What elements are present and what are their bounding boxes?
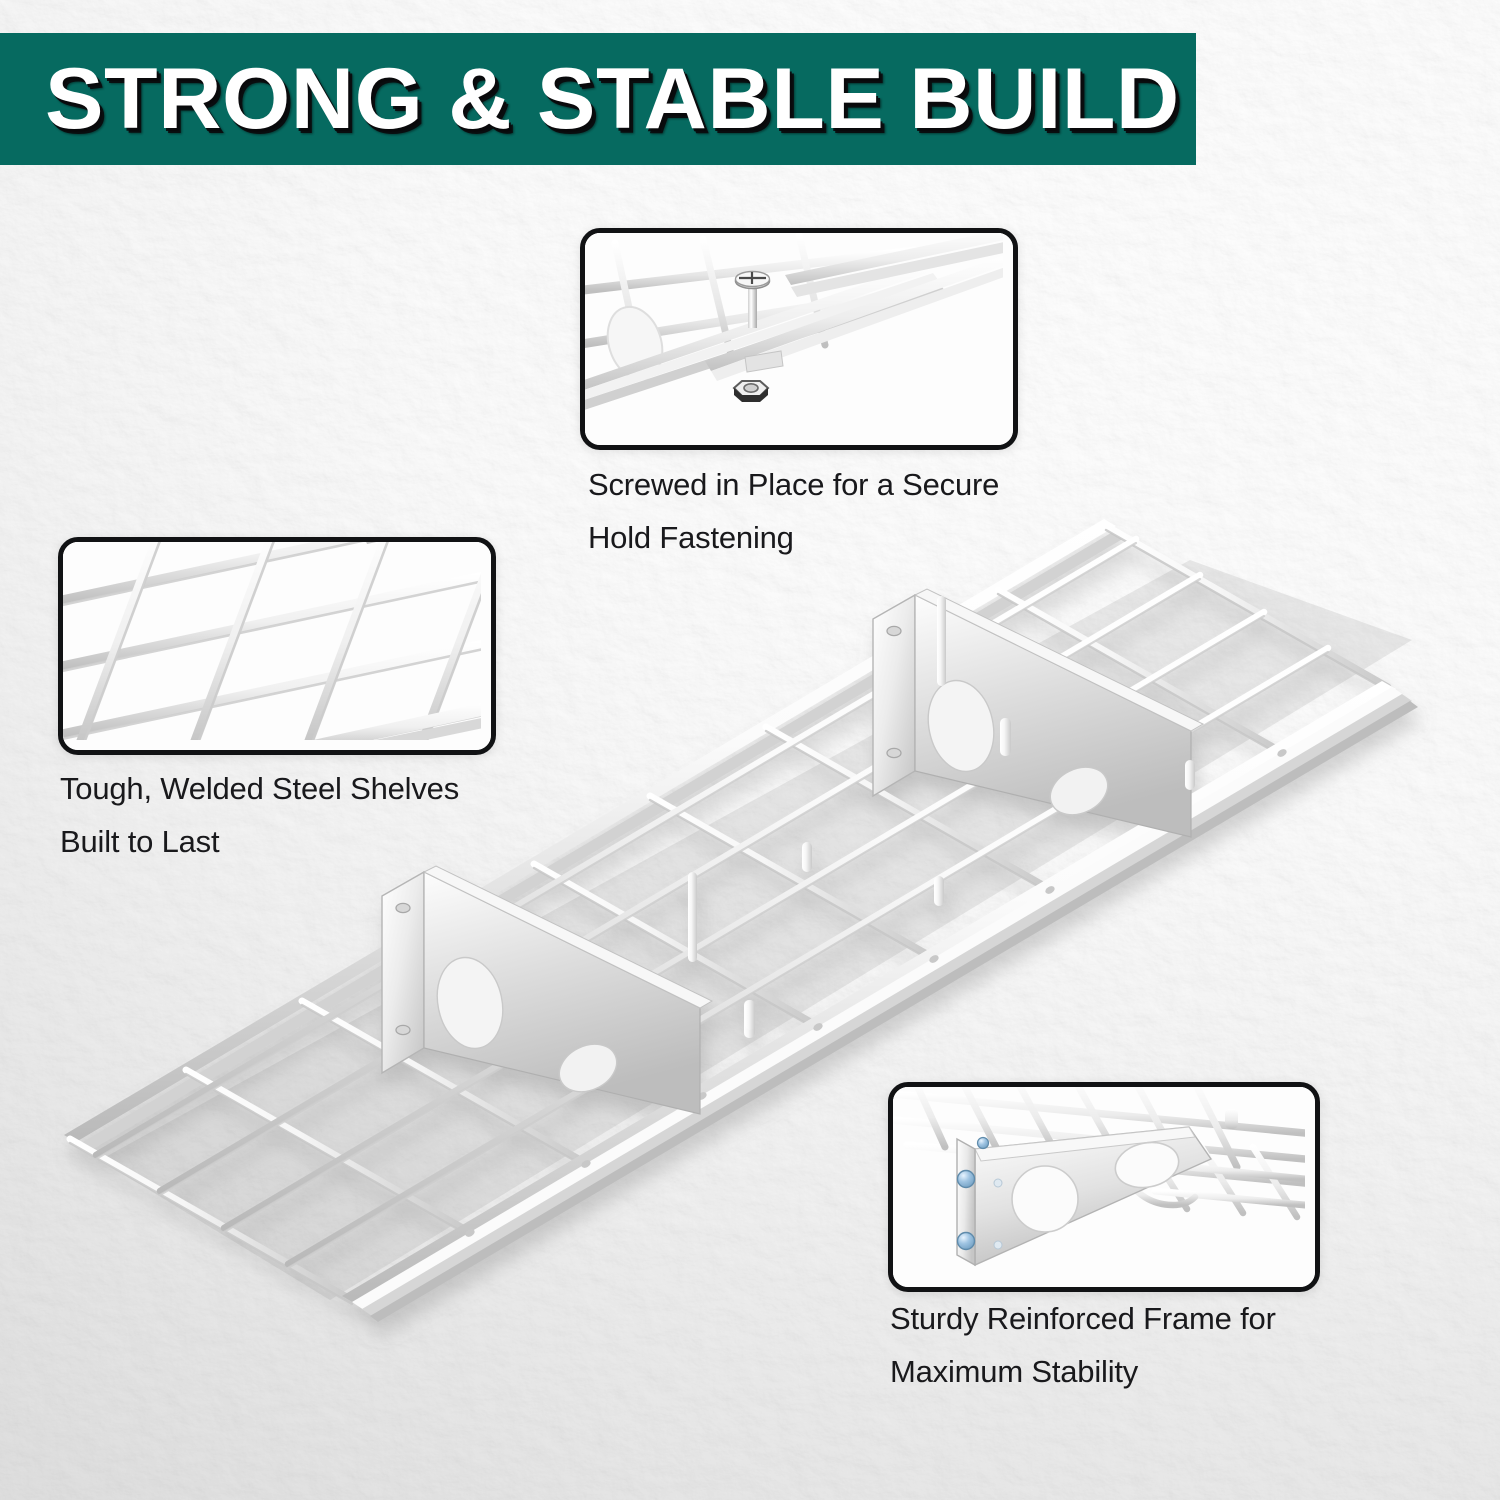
callout-box-screw — [580, 228, 1018, 450]
callout-caption-screw: Screwed in Place for a Secure Hold Faste… — [588, 458, 1108, 564]
callout-caption-mesh: Tough, Welded Steel Shelves Built to Las… — [60, 762, 580, 868]
callout-box-frame — [888, 1082, 1320, 1292]
callout-frame-image — [893, 1087, 1315, 1287]
callout-caption-frame: Sturdy Reinforced Frame for Maximum Stab… — [890, 1292, 1410, 1398]
page-title: STRONG & STABLE BUILD — [45, 54, 1180, 144]
nut-icon — [734, 381, 768, 402]
screw-detail-illustration — [585, 233, 1003, 435]
welded-mesh-illustration — [63, 542, 481, 740]
header-banner: STRONG & STABLE BUILD — [0, 33, 1196, 165]
reinforced-bracket-illustration — [893, 1087, 1305, 1277]
callout-box-mesh — [58, 537, 496, 755]
callout-screw-image — [585, 233, 1013, 445]
infographic-canvas: STRONG & STABLE BUILD — [0, 0, 1500, 1500]
callout-mesh-image — [63, 542, 491, 750]
